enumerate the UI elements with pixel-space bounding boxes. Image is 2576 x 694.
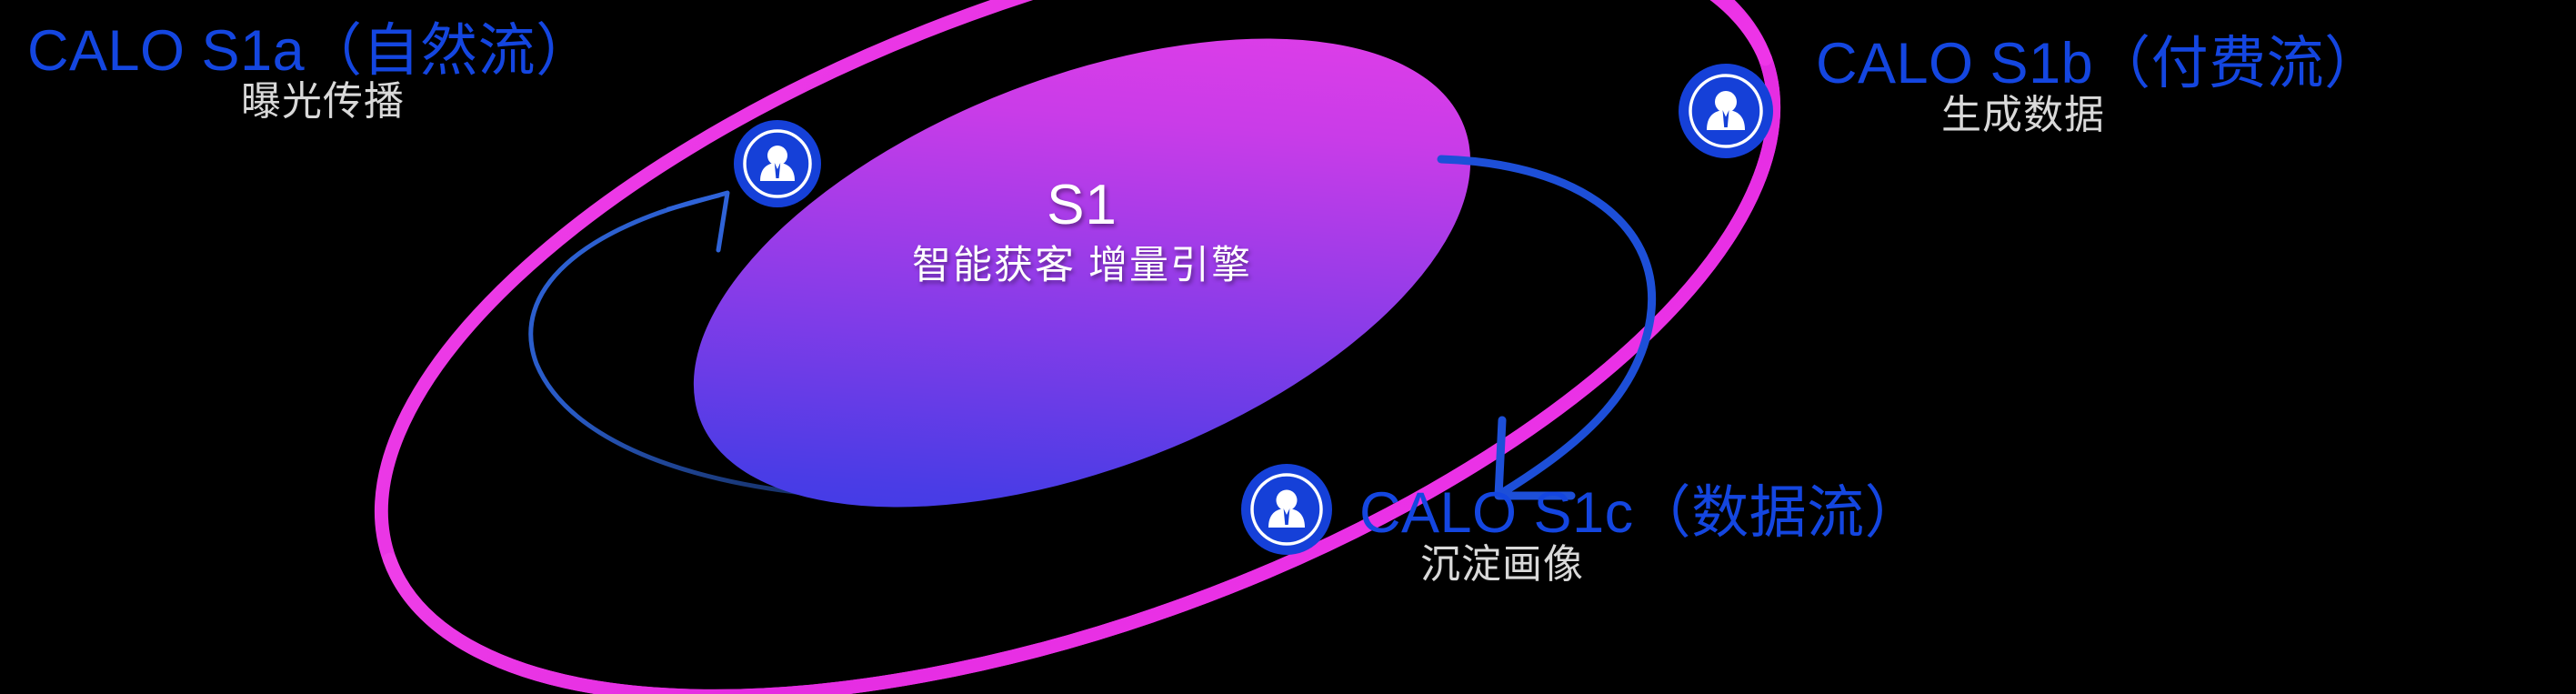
node-s1a-title: CALO S1a（自然流） (27, 20, 594, 83)
node-s1b-title: CALO S1b（付费流） (1816, 33, 2382, 96)
node-s1a-avatar[interactable] (734, 120, 821, 207)
node-s1b-subtitle: 生成数据 (1941, 94, 2105, 137)
node-s1a-subtitle: 曝光传播 (241, 80, 405, 124)
diagram-canvas: S1 智能获客 增量引擎 CALO S1a（自然流） 曝光传播 CALO S1b… (0, 0, 2576, 694)
node-s1c-subtitle: 沉淀画像 (1420, 543, 1584, 587)
flow-arrow-right (1441, 159, 1652, 496)
node-s1c-avatar[interactable] (1241, 464, 1332, 555)
node-s1c-title: CALO S1c（数据流） (1359, 482, 1922, 545)
node-s1b-avatar[interactable] (1679, 64, 1773, 158)
